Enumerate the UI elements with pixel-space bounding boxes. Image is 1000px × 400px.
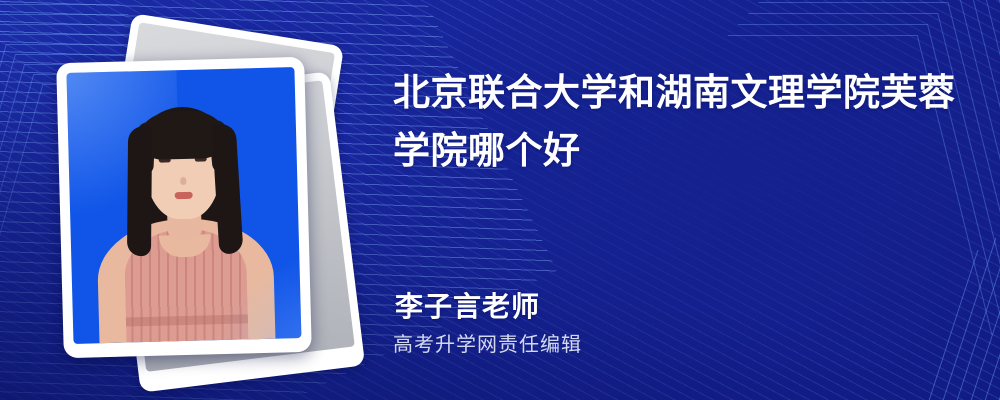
page-title: 北京联合大学和湖南文理学院芙蓉学院哪个好: [393, 64, 963, 180]
portrait-nose: [180, 177, 186, 185]
article-cover-banner: 北京联合大学和湖南文理学院芙蓉学院哪个好 李子言老师 高考升学网责任编辑: [0, 0, 1000, 400]
author-role: 高考升学网责任编辑: [393, 333, 968, 358]
author-photo-frame: [56, 57, 312, 358]
byline: 李子言老师 高考升学网责任编辑: [393, 289, 968, 358]
author-photo-stack: [60, 28, 360, 373]
portrait-illustration: [81, 88, 287, 343]
author-name: 李子言老师: [393, 289, 968, 324]
portrait-mouth: [175, 192, 193, 199]
banner-text-block: 北京联合大学和湖南文理学院芙蓉学院哪个好 李子言老师 高考升学网责任编辑: [393, 0, 968, 400]
author-photo: [66, 67, 301, 344]
portrait-hair-strand-left: [127, 126, 152, 256]
